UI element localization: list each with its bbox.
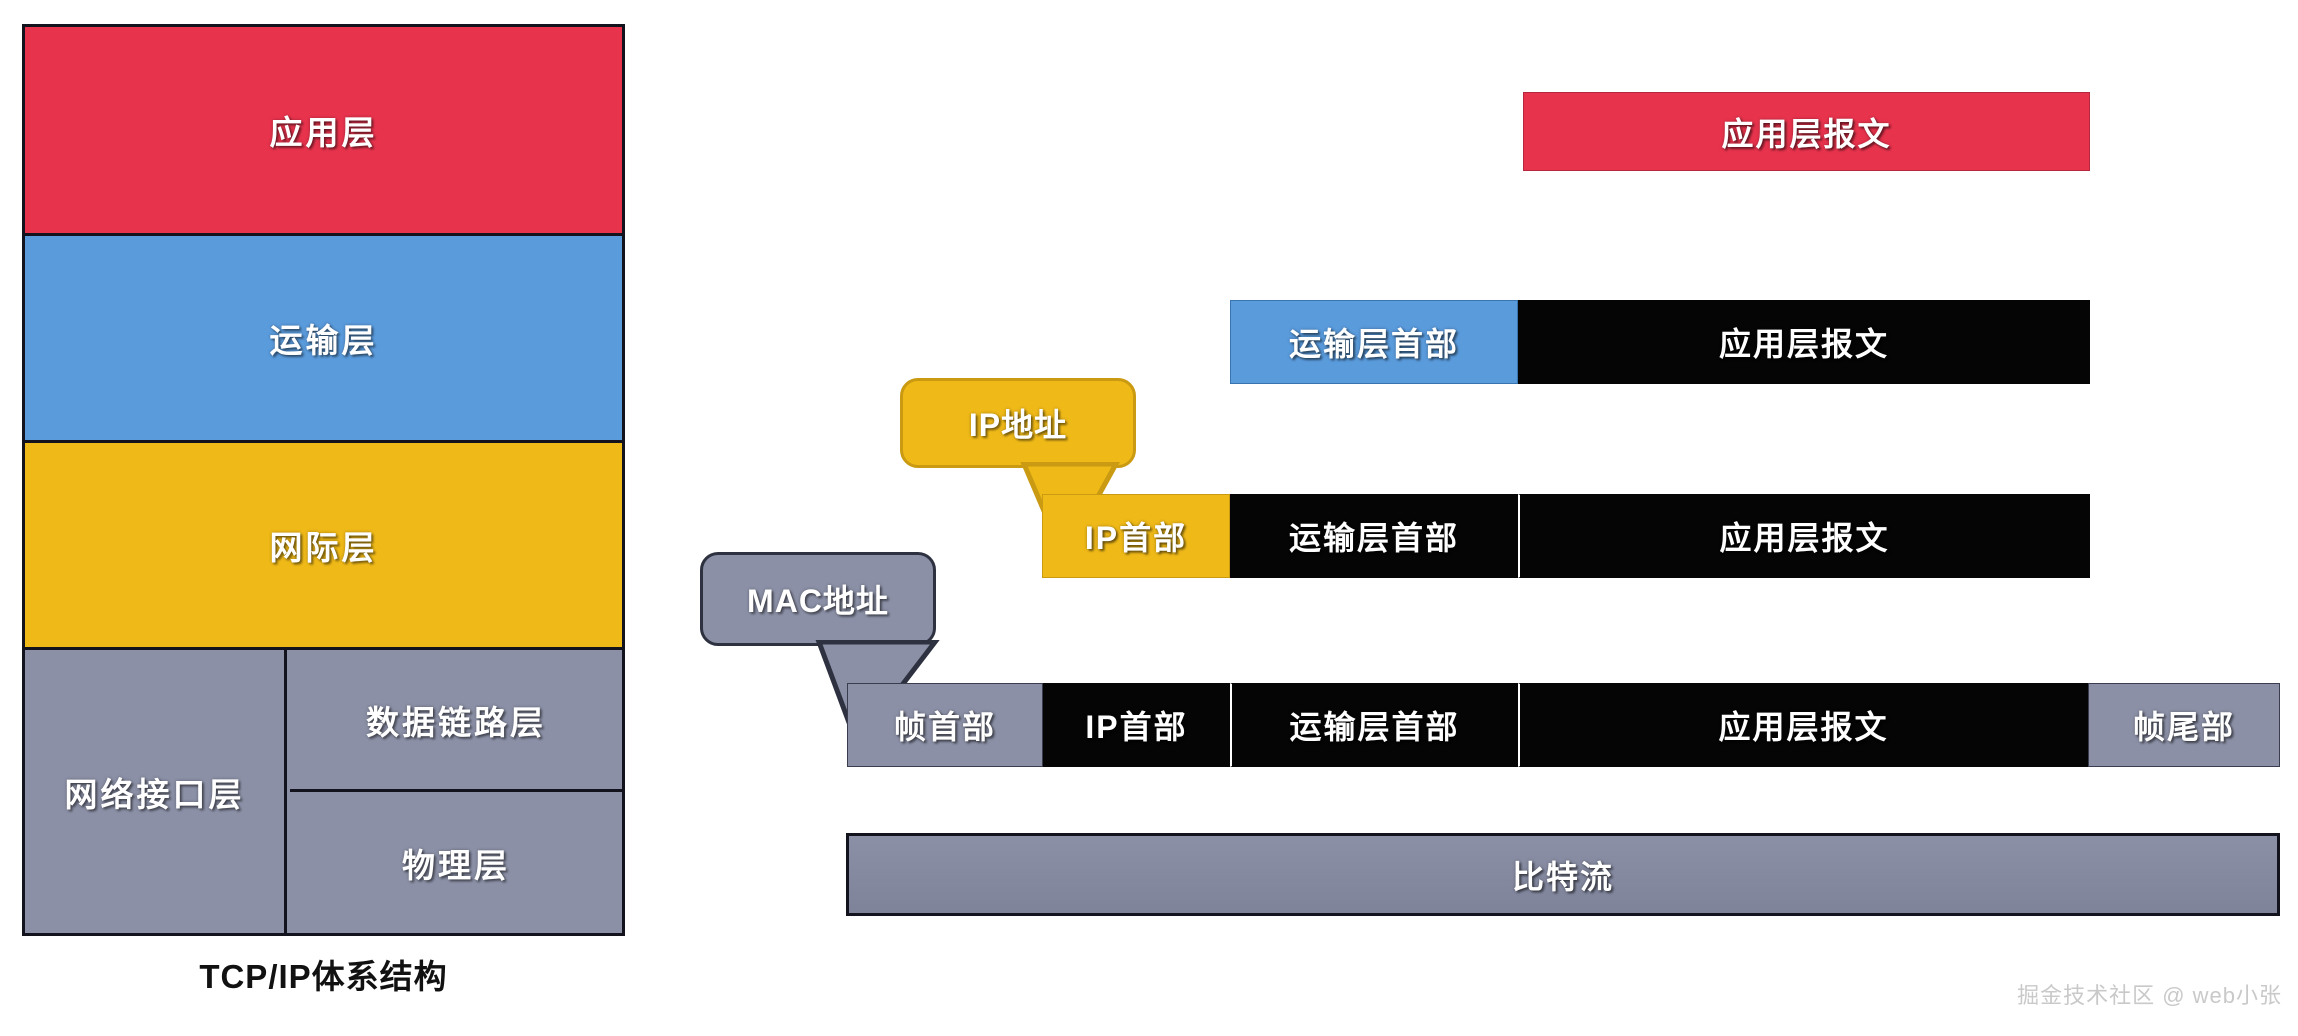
ip-address-callout-label: IP地址: [969, 400, 1067, 446]
segment-ip-header-row4: IP首部: [1043, 683, 1230, 767]
segment-transport-header-row3: 运输层首部: [1230, 494, 1518, 578]
mac-address-callout-label: MAC地址: [747, 576, 889, 622]
segment-application-message-row1: 应用层报文: [1523, 92, 2090, 171]
segment-frame-trailer-row4: 帧尾部: [2088, 683, 2280, 767]
segment-bit-stream: 比特流: [846, 833, 2280, 916]
segment-transport-header-row4: 运输层首部: [1230, 683, 1518, 767]
arch-layer-application: 应用层: [25, 27, 622, 236]
watermark: 掘金技术社区 @ web小张: [2017, 978, 2282, 1010]
ip-address-callout: IP地址: [900, 378, 1136, 468]
segment-frame-header-row4: 帧首部: [847, 683, 1043, 767]
diagram-canvas: 应用层 运输层 网际层 网络接口层 数据链路层 物理层 TCP/IP体系结构 应…: [0, 0, 2298, 1036]
arch-layer-network-interface: 网络接口层: [25, 650, 287, 933]
segment-application-message-row3: 应用层报文: [1518, 494, 2090, 578]
architecture-caption: TCP/IP体系结构: [22, 950, 625, 998]
segment-ip-header-row3: IP首部: [1042, 494, 1230, 578]
arch-layer-transport: 运输层: [25, 236, 622, 443]
mac-address-callout: MAC地址: [700, 552, 936, 646]
arch-sublayer-data-link: 数据链路层: [290, 650, 622, 792]
arch-layer-internet: 网际层: [25, 443, 622, 650]
arch-sublayer-physical: 物理层: [290, 792, 622, 933]
segment-application-message-row4: 应用层报文: [1518, 683, 2088, 767]
tcpip-architecture-table: 应用层 运输层 网际层 网络接口层 数据链路层 物理层: [22, 24, 625, 936]
segment-transport-header-row2: 运输层首部: [1230, 300, 1518, 384]
segment-application-message-row2: 应用层报文: [1518, 300, 2090, 384]
